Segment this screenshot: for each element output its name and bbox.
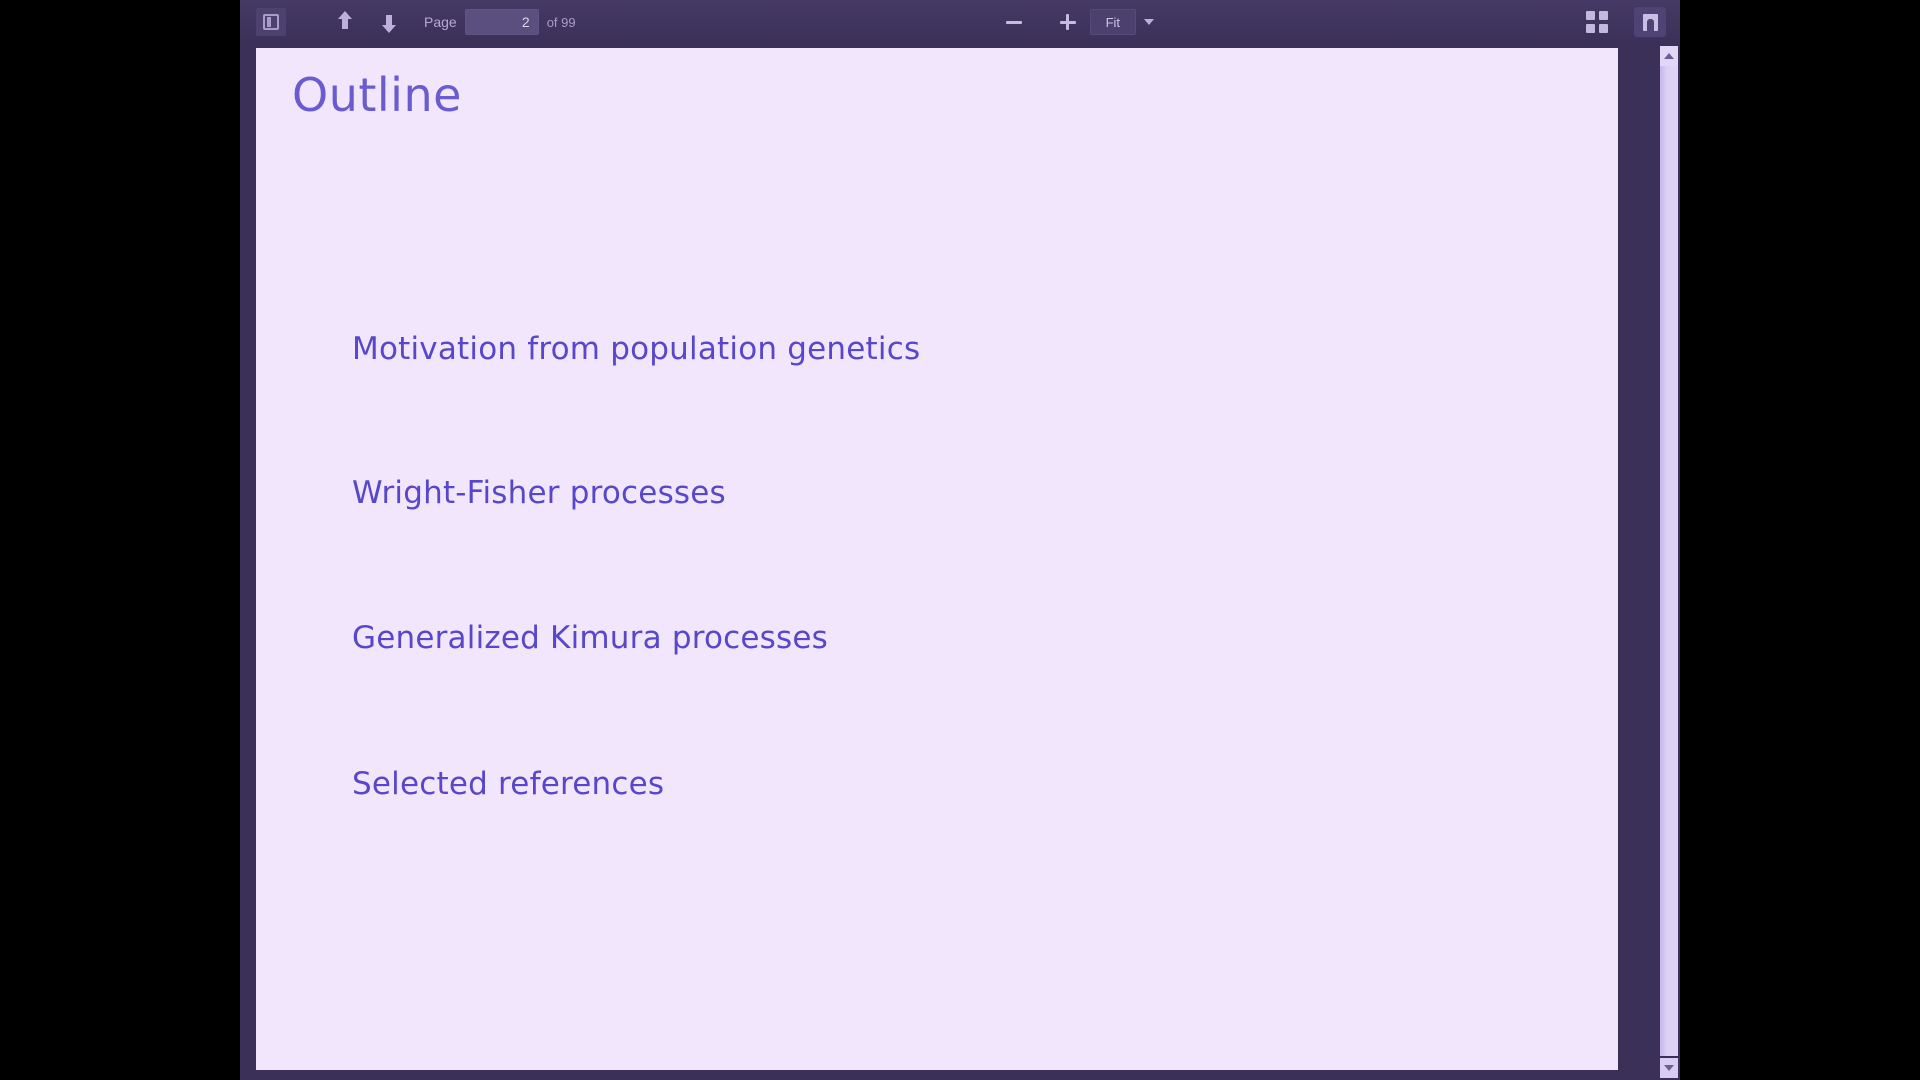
outline-item-motivation: Motivation from population genetics — [352, 331, 920, 367]
pdf-viewer-window: Page of 99 Fit — [240, 0, 1680, 1080]
next-page-icon[interactable] — [374, 8, 404, 36]
zoom-level-select[interactable]: Fit — [1090, 9, 1136, 35]
pdf-page-slide: Outline Motivation from population genet… — [256, 48, 1618, 1070]
grid-dot — [1599, 11, 1608, 20]
plus-glyph — [1060, 14, 1076, 30]
vertical-scrollbar[interactable] — [1658, 44, 1680, 1080]
scroll-up-arrow-icon[interactable] — [1660, 46, 1678, 66]
scroll-down-arrow-icon[interactable] — [1660, 1058, 1678, 1078]
previous-page-icon[interactable] — [330, 8, 360, 36]
outline-item-selected-references: Selected references — [352, 766, 664, 802]
outline-item-generalized-kimura: Generalized Kimura processes — [352, 620, 828, 656]
triangle-up-glyph — [1664, 53, 1674, 59]
pdf-viewer-body: Outline Motivation from population genet… — [240, 44, 1680, 1080]
outline-item-wright-fisher: Wright-Fisher processes — [352, 475, 726, 511]
caret-glyph — [1144, 19, 1154, 25]
video-player-controls: 0:42 / 58:16 — [0, 1000, 240, 1080]
screen: 0:42 / 58:16 Page of 99 — [0, 0, 1920, 1080]
presentation-mode-icon[interactable] — [1582, 8, 1612, 36]
tools-menu-icon[interactable] — [1634, 7, 1666, 37]
sidebar-toggle-icon[interactable] — [256, 8, 286, 36]
grid-dot — [1599, 24, 1608, 33]
grid-dot — [1586, 11, 1595, 20]
page-label: Page — [424, 14, 457, 30]
zoom-out-icon[interactable] — [998, 8, 1030, 36]
document-glyph — [1643, 14, 1658, 31]
pdf-toolbar: Page of 99 Fit — [240, 0, 1680, 44]
page-title: Outline — [292, 68, 462, 122]
scrollbar-thumb[interactable] — [1660, 66, 1678, 1056]
grid-dot — [1586, 24, 1595, 33]
triangle-down-glyph — [1664, 1065, 1674, 1071]
minus-glyph — [1006, 21, 1022, 24]
zoom-in-icon[interactable] — [1052, 8, 1084, 36]
sidebar-glyph — [263, 14, 279, 30]
page-total-label: of 99 — [547, 15, 576, 30]
page-number-input[interactable] — [465, 9, 539, 35]
chevron-down-icon[interactable] — [1138, 9, 1160, 35]
